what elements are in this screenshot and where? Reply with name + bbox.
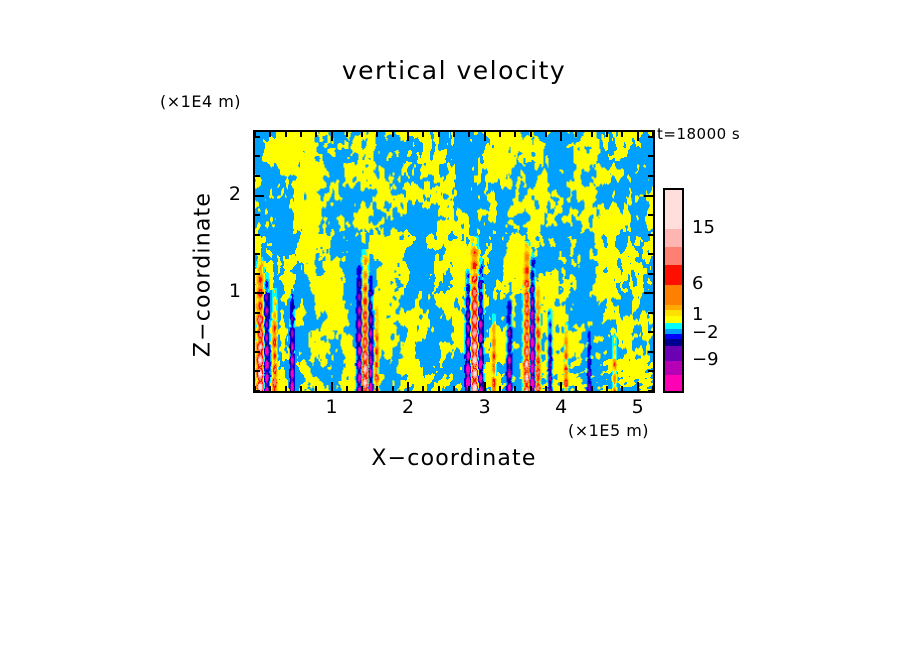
x-axis-tick (407, 382, 409, 391)
x-axis-tick (560, 382, 562, 391)
x-axis-tick (530, 386, 532, 391)
x-axis-tick (438, 386, 440, 391)
x-axis-tick (407, 132, 409, 141)
y-tick-label: 2 (213, 183, 241, 205)
x-axis-tick (438, 132, 440, 137)
x-axis-tick (422, 132, 424, 137)
colorbar-band (665, 229, 682, 247)
colorbar-tick-label: 6 (692, 273, 703, 294)
x-tick-label: 2 (388, 396, 428, 418)
y-axis-tick (648, 390, 653, 392)
y-axis-tick (255, 370, 260, 372)
x-axis-tick (361, 132, 363, 137)
y-axis-tick (255, 312, 260, 314)
x-axis-tick (499, 386, 501, 391)
y-axis-tick (644, 195, 653, 197)
x-axis-tick (300, 132, 302, 137)
x-axis-tick (285, 386, 287, 391)
x-axis-tick (392, 386, 394, 391)
x-tick-label: 3 (465, 396, 505, 418)
colorbar-tick-label: 15 (692, 217, 715, 238)
x-axis-tick (422, 386, 424, 391)
x-axis-tick (591, 386, 593, 391)
y-axis-tick (255, 253, 260, 255)
x-axis-tick (331, 382, 333, 391)
x-axis-tick (591, 132, 593, 137)
y-axis-tick (648, 234, 653, 236)
contour-field (255, 132, 653, 391)
x-axis-title: X−coordinate (253, 446, 655, 471)
x-axis-tick (346, 386, 348, 391)
x-axis-tick (575, 386, 577, 391)
x-axis-tick (621, 386, 623, 391)
y-axis-title: Z−coordinate (191, 65, 216, 485)
x-axis-tick (315, 386, 317, 391)
x-axis-unit-label: (×1E5 m) (568, 421, 649, 440)
x-axis-tick (499, 132, 501, 137)
y-axis-tick (255, 136, 260, 138)
x-axis-tick (376, 132, 378, 137)
y-axis-tick (255, 351, 260, 353)
x-axis-tick (315, 132, 317, 137)
x-axis-tick (346, 132, 348, 137)
x-axis-tick (484, 382, 486, 391)
colorbar-band (665, 361, 682, 376)
y-axis-tick (648, 273, 653, 275)
y-axis-tick (648, 175, 653, 177)
x-axis-tick (621, 132, 623, 137)
colorbar-band (665, 375, 682, 391)
y-tick-label: 1 (213, 280, 241, 302)
x-axis-tick (606, 132, 608, 137)
plot-panel (253, 130, 655, 393)
y-axis-tick (648, 155, 653, 157)
x-axis-tick (514, 132, 516, 137)
x-tick-label: 4 (541, 396, 581, 418)
y-axis-tick (255, 390, 260, 392)
y-axis-tick (255, 175, 260, 177)
y-axis-tick (648, 351, 653, 353)
y-axis-tick (644, 292, 653, 294)
x-axis-tick (575, 132, 577, 137)
x-axis-tick (300, 386, 302, 391)
y-axis-tick (648, 253, 653, 255)
colorbar-band (665, 339, 682, 346)
x-axis-tick (560, 132, 562, 141)
y-axis-tick (255, 195, 264, 197)
x-axis-tick (545, 132, 547, 137)
x-axis-tick (637, 132, 639, 141)
y-axis-tick (255, 155, 260, 157)
y-axis-tick (648, 370, 653, 372)
colorbar (663, 188, 684, 393)
x-axis-tick (606, 386, 608, 391)
y-axis-tick (648, 312, 653, 314)
x-axis-tick (545, 386, 547, 391)
colorbar-band (665, 247, 682, 264)
x-axis-tick (285, 132, 287, 137)
x-tick-label: 5 (618, 396, 658, 418)
x-axis-tick (269, 386, 271, 391)
x-axis-tick (269, 132, 271, 137)
x-axis-tick (453, 386, 455, 391)
y-axis-tick (648, 331, 653, 333)
x-axis-tick (392, 132, 394, 137)
x-axis-tick (530, 132, 532, 137)
x-axis-tick (514, 386, 516, 391)
y-axis-tick (648, 214, 653, 216)
x-axis-tick (376, 386, 378, 391)
x-axis-tick (637, 382, 639, 391)
y-axis-tick (255, 214, 260, 216)
x-axis-tick (453, 132, 455, 137)
colorbar-tick-label: −9 (692, 349, 719, 370)
y-axis-tick (255, 234, 260, 236)
x-axis-tick (484, 132, 486, 141)
y-axis-tick (255, 331, 260, 333)
figure-canvas: vertical velocity (×1E4 m) t=18000 s 123… (0, 0, 904, 654)
colorbar-band (665, 190, 682, 229)
colorbar-band (665, 265, 682, 285)
y-axis-tick (648, 136, 653, 138)
page-title: vertical velocity (253, 56, 655, 85)
colorbar-band (665, 316, 682, 323)
time-annotation: t=18000 s (657, 125, 740, 143)
y-axis-tick (255, 273, 260, 275)
x-axis-tick (331, 132, 333, 141)
colorbar-tick-label: −2 (692, 322, 719, 343)
colorbar-band (665, 285, 682, 304)
x-axis-tick (468, 386, 470, 391)
y-axis-tick (255, 292, 264, 294)
x-axis-tick (361, 386, 363, 391)
x-tick-label: 1 (312, 396, 352, 418)
colorbar-band (665, 346, 682, 361)
x-axis-tick (468, 132, 470, 137)
